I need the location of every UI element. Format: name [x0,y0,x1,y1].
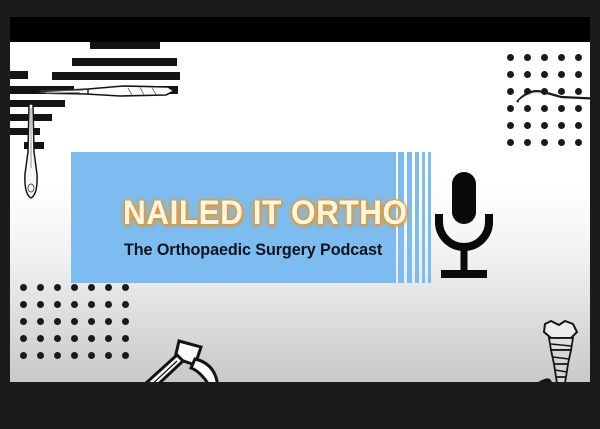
grid-dot [20,335,27,342]
grid-dot [71,352,78,359]
grid-dot [558,71,565,78]
grid-dot [71,301,78,308]
bar-segment [90,42,160,49]
grid-dot [122,318,129,325]
grid-dot [507,54,514,61]
claw-hammer-icon [105,337,225,382]
grid-dot [20,352,27,359]
grid-dot [54,301,61,308]
grid-dot [37,352,44,359]
grid-dot [507,105,514,112]
grid-dot [541,54,548,61]
grid-dot [105,301,112,308]
grid-dot [71,318,78,325]
grid-dot [54,318,61,325]
grid-dot [88,318,95,325]
bar-segment [10,71,28,79]
screenshot-stage: NAILED IT ORTHO The Orthopaedic Surgery … [0,0,600,429]
grid-dot [88,335,95,342]
letterbox-band-top [10,17,590,42]
grid-dot [88,352,95,359]
title-block: NAILED IT ORTHO The Orthopaedic Surgery … [71,152,451,283]
grid-dot [558,54,565,61]
grid-dot [575,122,582,129]
grid-dot [122,284,129,291]
grid-dot [507,122,514,129]
bar-segment [52,72,180,80]
grid-dot [105,318,112,325]
grid-dot [122,301,129,308]
grid-dot [575,54,582,61]
grid-dot [20,318,27,325]
bone-icon [478,375,560,382]
grid-dot [71,284,78,291]
grid-dot [524,54,531,61]
subtitle: The Orthopaedic Surgery Podcast [124,240,382,260]
grid-dot [37,335,44,342]
bar-segment [72,58,177,66]
grid-dot [71,335,78,342]
grid-dot [37,284,44,291]
grid-dot [37,318,44,325]
cover-art-canvas: NAILED IT ORTHO The Orthopaedic Surgery … [10,42,590,382]
grid-dot [541,122,548,129]
grid-dot [507,71,514,78]
grid-dot [575,71,582,78]
grid-dot [558,139,565,146]
grid-dot [54,352,61,359]
grid-dot [524,139,531,146]
grid-dot [20,301,27,308]
grid-dot [524,122,531,129]
grid-dot [88,284,95,291]
grid-dot [541,139,548,146]
scalpel-icon [28,80,178,102]
bone-screw-icon [535,320,587,382]
suture-needle-icon [515,86,590,108]
grid-dot [575,139,582,146]
grid-dot [105,284,112,291]
grid-dot [507,139,514,146]
grid-dot [37,301,44,308]
grid-dot [54,284,61,291]
grid-dot [54,335,61,342]
grid-dot [558,122,565,129]
page-title: NAILED IT ORTHO [123,194,408,233]
grid-dot [541,71,548,78]
grid-dot [88,301,95,308]
microphone-icon [433,170,495,290]
bone-elevator-icon [18,102,44,202]
grid-dot [507,88,514,95]
grid-dot [20,284,27,291]
grid-dot [524,71,531,78]
